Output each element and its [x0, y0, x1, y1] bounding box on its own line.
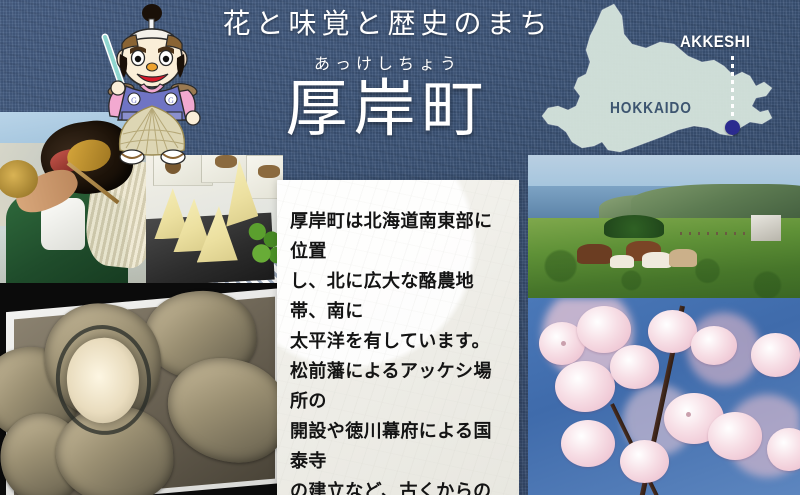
pasture-horse [642, 252, 672, 268]
map-location-marker [725, 120, 740, 135]
pasture-horse [610, 255, 634, 268]
akkeshi-town-banner: AKKESHI HOKKAIDO [0, 0, 800, 495]
hand [186, 111, 200, 125]
package-photo [258, 165, 280, 178]
hokkaido-island-shape [528, 0, 800, 160]
sakura-stamen [686, 412, 691, 417]
svg-text:G: G [168, 96, 174, 105]
pasture-signboard [751, 215, 781, 241]
sakura-blossom [691, 326, 737, 365]
description-line: 松前藩によるアッケシ場所の [290, 356, 509, 416]
hokkaido-map: AKKESHI HOKKAIDO [528, 0, 800, 160]
map-leader-dotted-line [731, 56, 734, 122]
pasture-horse [669, 249, 696, 266]
description-line: 厚岸町は北海道南東部に位置 [290, 206, 509, 266]
sakura-blossom [561, 420, 615, 467]
photo-cheese [146, 155, 283, 283]
description-line: し、北に広大な酪農地帯、南に [290, 266, 509, 326]
description-text: 厚岸町は北海道南東部に位置し、北に広大な酪農地帯、南に太平洋を有しています。松前… [277, 180, 519, 495]
package-photo [215, 155, 237, 168]
photo-sakura [528, 298, 800, 495]
description-line: 開設や徳川幕府による国泰寺 [290, 416, 509, 476]
sakura-blossom [555, 361, 615, 412]
sakura-stamen [561, 341, 566, 346]
map-label-hokkaido: HOKKAIDO [610, 100, 692, 118]
sakura-blossom [648, 310, 697, 353]
town-name-furigana: あっけしちょう [215, 50, 560, 74]
description-line: 太平洋を有しています。 [290, 326, 509, 356]
map-label-akkeshi: AKKESHI [680, 32, 750, 52]
sakura-blossom [610, 345, 659, 388]
town-name: 厚岸町 [215, 78, 560, 143]
mascot-character: G G [92, 2, 212, 167]
sakura-blossom [751, 333, 800, 376]
hand [111, 81, 125, 95]
photo-pasture [528, 155, 800, 298]
pasture-horse [577, 244, 612, 264]
header-text-block: 花と味覚と歴史のまち あっけしちょう 厚岸町 [215, 10, 560, 143]
description-line: の建立など、古くからの歴史を [290, 476, 509, 495]
svg-text:G: G [131, 96, 137, 105]
sakura-blossom [708, 412, 762, 459]
pasture-tree [604, 215, 664, 238]
tagline: 花と味覚と歴史のまち [215, 10, 560, 41]
photo-oysters [0, 283, 278, 495]
description-panel: 厚岸町は北海道南東部に位置し、北に広大な酪農地帯、南に太平洋を有しています。松前… [277, 180, 519, 495]
